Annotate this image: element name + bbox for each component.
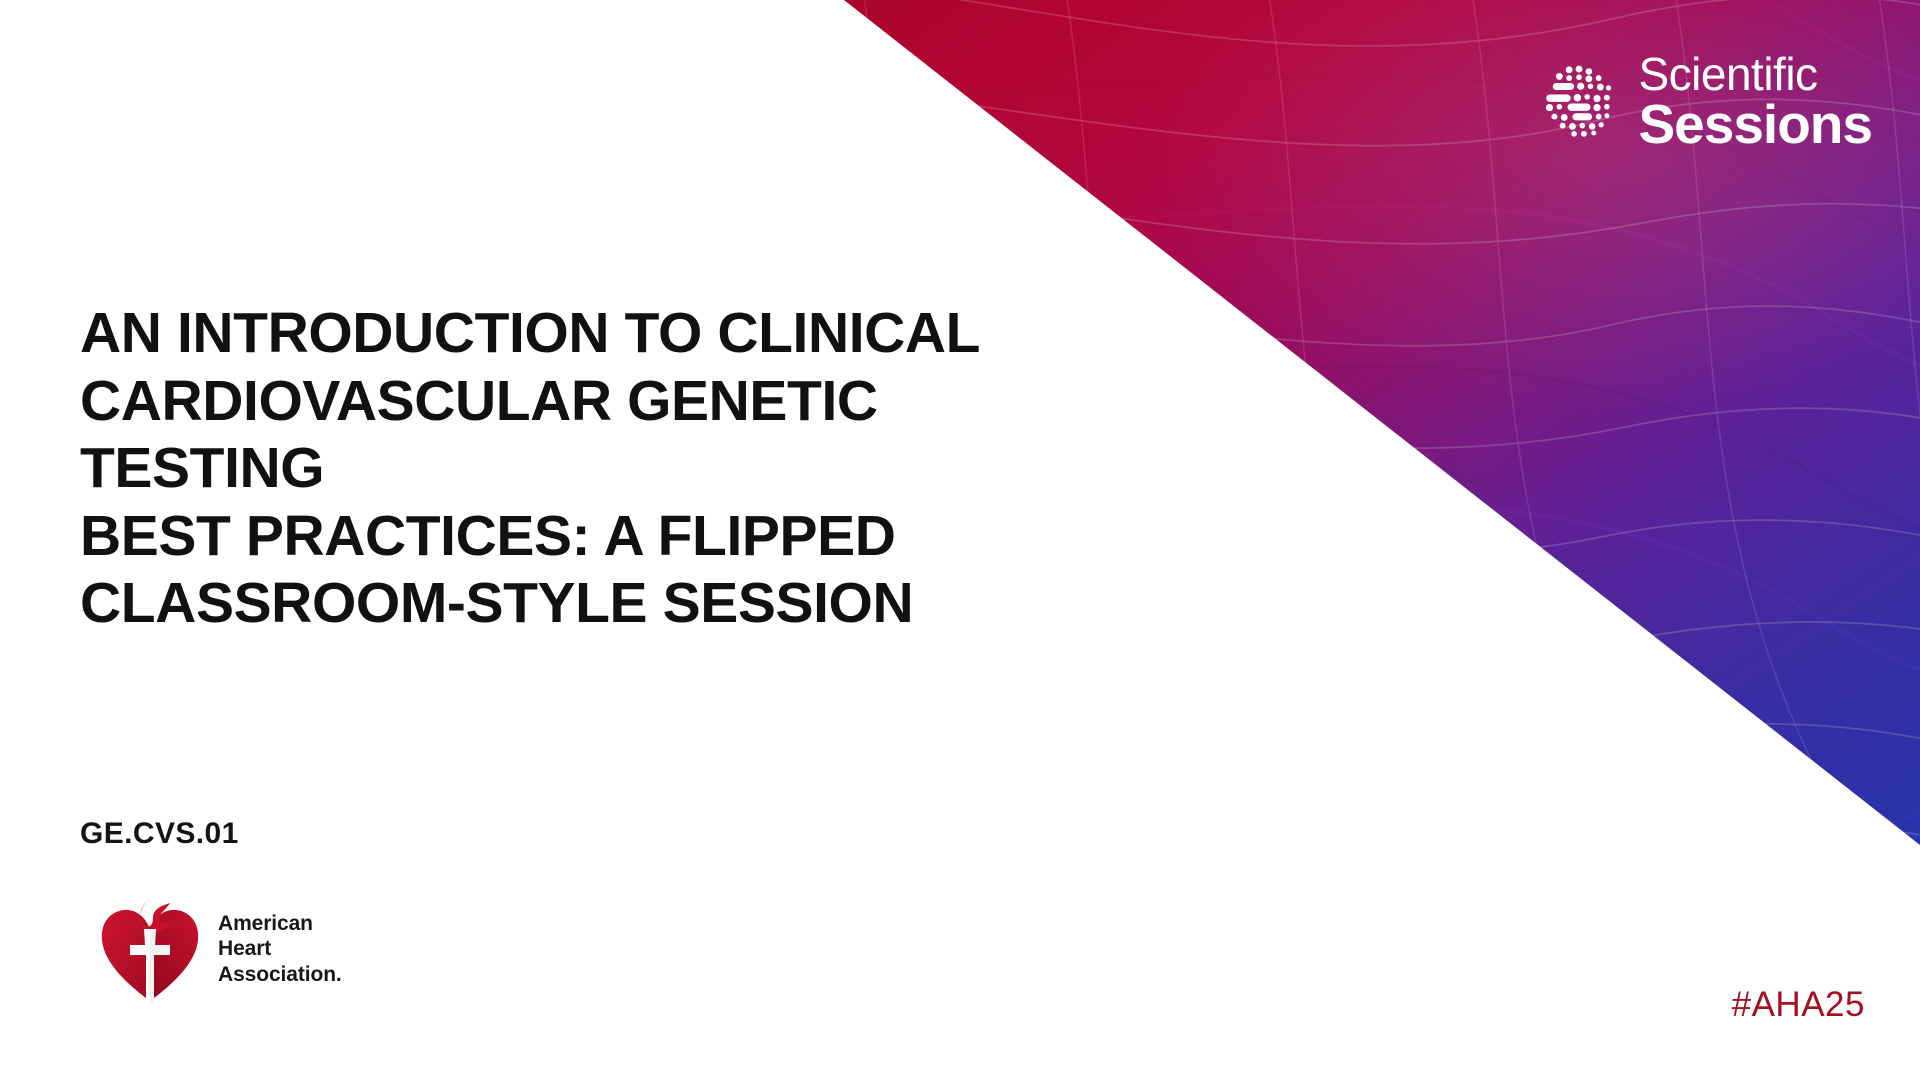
slide-title-line-2: CARDIOVASCULAR GENETIC TESTING (80, 369, 878, 501)
event-hashtag: #AHA25 (1732, 985, 1865, 1025)
presentation-slide: Scientific Sessions AN INTRODUCTION TO C… (0, 0, 1920, 1080)
dotted-globe-icon (1538, 60, 1620, 142)
scientific-sessions-word-top: Scientific (1638, 52, 1872, 96)
slide-title: AN INTRODUCTION TO CLINICAL CARDIOVASCUL… (80, 300, 1090, 638)
scientific-sessions-logo: Scientific Sessions (1538, 52, 1872, 151)
scientific-sessions-word-bottom: Sessions (1638, 98, 1872, 151)
aha-wordmark-line-2: Heart (218, 936, 342, 962)
session-code: GE.CVS.01 (80, 817, 239, 851)
slide-title-line-1: AN INTRODUCTION TO CLINICAL (80, 301, 980, 365)
american-heart-association-logo: American Heart Association. (98, 893, 342, 1005)
aha-wordmark-line-3: Association. (218, 962, 342, 988)
heart-torch-icon (98, 893, 202, 1005)
aha-wordmark-line-1: American (218, 911, 342, 937)
aha-wordmark: American Heart Association. (218, 911, 342, 988)
slide-title-line-4: CLASSROOM-STYLE SESSION (80, 571, 913, 635)
slide-title-line-3: BEST PRACTICES: A FLIPPED (80, 504, 896, 568)
scientific-sessions-wordmark: Scientific Sessions (1638, 52, 1872, 151)
